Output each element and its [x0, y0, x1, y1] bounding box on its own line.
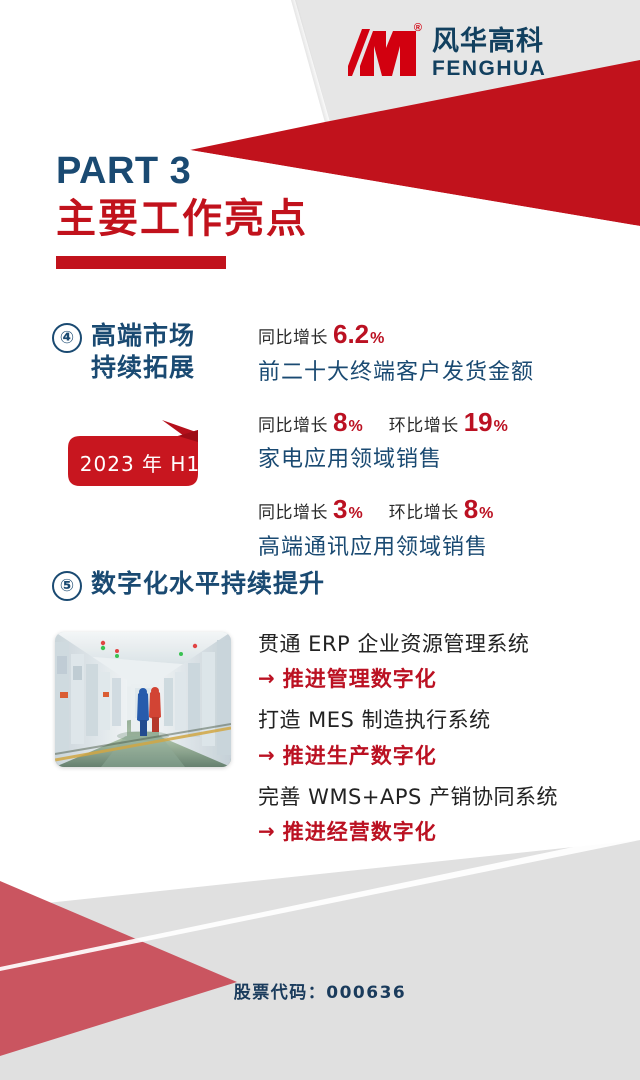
arrow-right-icon: →	[258, 745, 275, 765]
section-4-header: ④ 高端市场 持续拓展	[52, 320, 195, 384]
item-outcome: → 推进经营数字化	[258, 816, 558, 846]
metric-unit: %	[494, 417, 508, 437]
brand-wordmark: 风华高科 FENGHUA	[432, 26, 546, 79]
arrow-right-icon: →	[258, 821, 275, 841]
metric-value: 8	[333, 406, 347, 439]
digitalization-items-list: 贯通 ERP 企业资源管理系统 → 推进管理数字化 打造 MES 制造执行系统 …	[258, 630, 558, 859]
metric: 环比增长 19 %	[389, 406, 508, 439]
page-title-block: PART 3 主要工作亮点	[56, 152, 308, 269]
arrow-right-icon: →	[258, 668, 275, 688]
cleanroom-photo	[55, 632, 231, 767]
title-underline-rule	[56, 256, 226, 269]
section-4-title-line1: 高端市场	[91, 320, 195, 352]
stat-metrics-row: 同比增长 3 % 环比增长 8 %	[258, 493, 534, 526]
stat-metrics-row: 同比增长 6.2 %	[258, 318, 534, 351]
fenghua-m-logo-icon: ®	[346, 26, 420, 78]
item-outcome-text: 推进生产数字化	[283, 740, 437, 770]
brand-name-en: FENGHUA	[432, 58, 546, 79]
stat-caption: 高端通讯应用领域销售	[258, 529, 534, 561]
item-main-text: 完善 WMS+APS 产销协同系统	[258, 783, 558, 811]
metric: 环比增长 8 %	[389, 493, 494, 526]
item-main-text: 打造 MES 制造执行系统	[258, 706, 558, 734]
metric-unit: %	[370, 329, 384, 349]
brand-name-cn: 风华高科	[432, 28, 546, 55]
list-item: 完善 WMS+APS 产销协同系统 → 推进经营数字化	[258, 783, 558, 846]
metric-value: 3	[333, 493, 347, 526]
list-item: 打造 MES 制造执行系统 → 推进生产数字化	[258, 706, 558, 769]
section-5-header: ⑤ 数字化水平持续提升	[52, 568, 325, 601]
metric: 同比增长 8 %	[258, 406, 363, 439]
metric-unit: %	[348, 417, 362, 437]
metric-unit: %	[348, 504, 362, 524]
section-digitalization: ⑤ 数字化水平持续提升	[52, 568, 325, 601]
stat-group: 同比增长 3 % 环比增长 8 % 高端通讯应用领域销售	[258, 493, 534, 561]
poster-canvas: ® 风华高科 FENGHUA PART 3 主要工作亮点 ④ 高端市场 持续拓展…	[0, 0, 640, 1080]
part-label: PART 3	[56, 152, 308, 192]
market-stats-list: 同比增长 6.2 % 前二十大终端客户发货金额 同比增长 8 % 环比增长 19…	[258, 318, 534, 581]
registered-trademark-icon: ®	[414, 23, 422, 34]
item-outcome-text: 推进管理数字化	[283, 663, 437, 693]
stat-group: 同比增长 8 % 环比增长 19 % 家电应用领域销售	[258, 406, 534, 474]
metric-label: 环比增长	[389, 416, 459, 437]
item-outcome: → 推进生产数字化	[258, 740, 558, 770]
brand-logo: ® 风华高科 FENGHUA	[346, 26, 546, 79]
item-main-text: 贯通 ERP 企业资源管理系统	[258, 630, 558, 658]
stock-code-label: 股票代码：000636	[0, 978, 640, 1003]
period-badge: 2023 年 H1	[66, 418, 214, 490]
metric-label: 同比增长	[258, 503, 328, 524]
section-4-title-line2: 持续拓展	[91, 352, 195, 384]
metric-value: 19	[464, 406, 493, 439]
stat-group: 同比增长 6.2 % 前二十大终端客户发货金额	[258, 318, 534, 386]
item-outcome-text: 推进经营数字化	[283, 816, 437, 846]
metric-unit: %	[479, 504, 493, 524]
metric: 同比增长 3 %	[258, 493, 363, 526]
section-high-end-market: ④ 高端市场 持续拓展	[52, 320, 195, 384]
metric-label: 同比增长	[258, 416, 328, 437]
section-number-5: ⑤	[52, 571, 82, 601]
section-4-title: 高端市场 持续拓展	[91, 320, 195, 384]
stat-caption: 前二十大终端客户发货金额	[258, 354, 534, 386]
item-outcome: → 推进管理数字化	[258, 663, 558, 693]
list-item: 贯通 ERP 企业资源管理系统 → 推进管理数字化	[258, 630, 558, 693]
section-5-title: 数字化水平持续提升	[91, 568, 325, 600]
metric-label: 同比增长	[258, 328, 328, 349]
stat-metrics-row: 同比增长 8 % 环比增长 19 %	[258, 406, 534, 439]
section-number-4: ④	[52, 323, 82, 353]
metric-value: 6.2	[333, 318, 369, 351]
metric: 同比增长 6.2 %	[258, 318, 384, 351]
metric-value: 8	[464, 493, 478, 526]
period-badge-label: 2023 年 H1	[66, 448, 214, 477]
page-title: 主要工作亮点	[56, 196, 308, 242]
stat-caption: 家电应用领域销售	[258, 441, 534, 473]
metric-label: 环比增长	[389, 503, 459, 524]
